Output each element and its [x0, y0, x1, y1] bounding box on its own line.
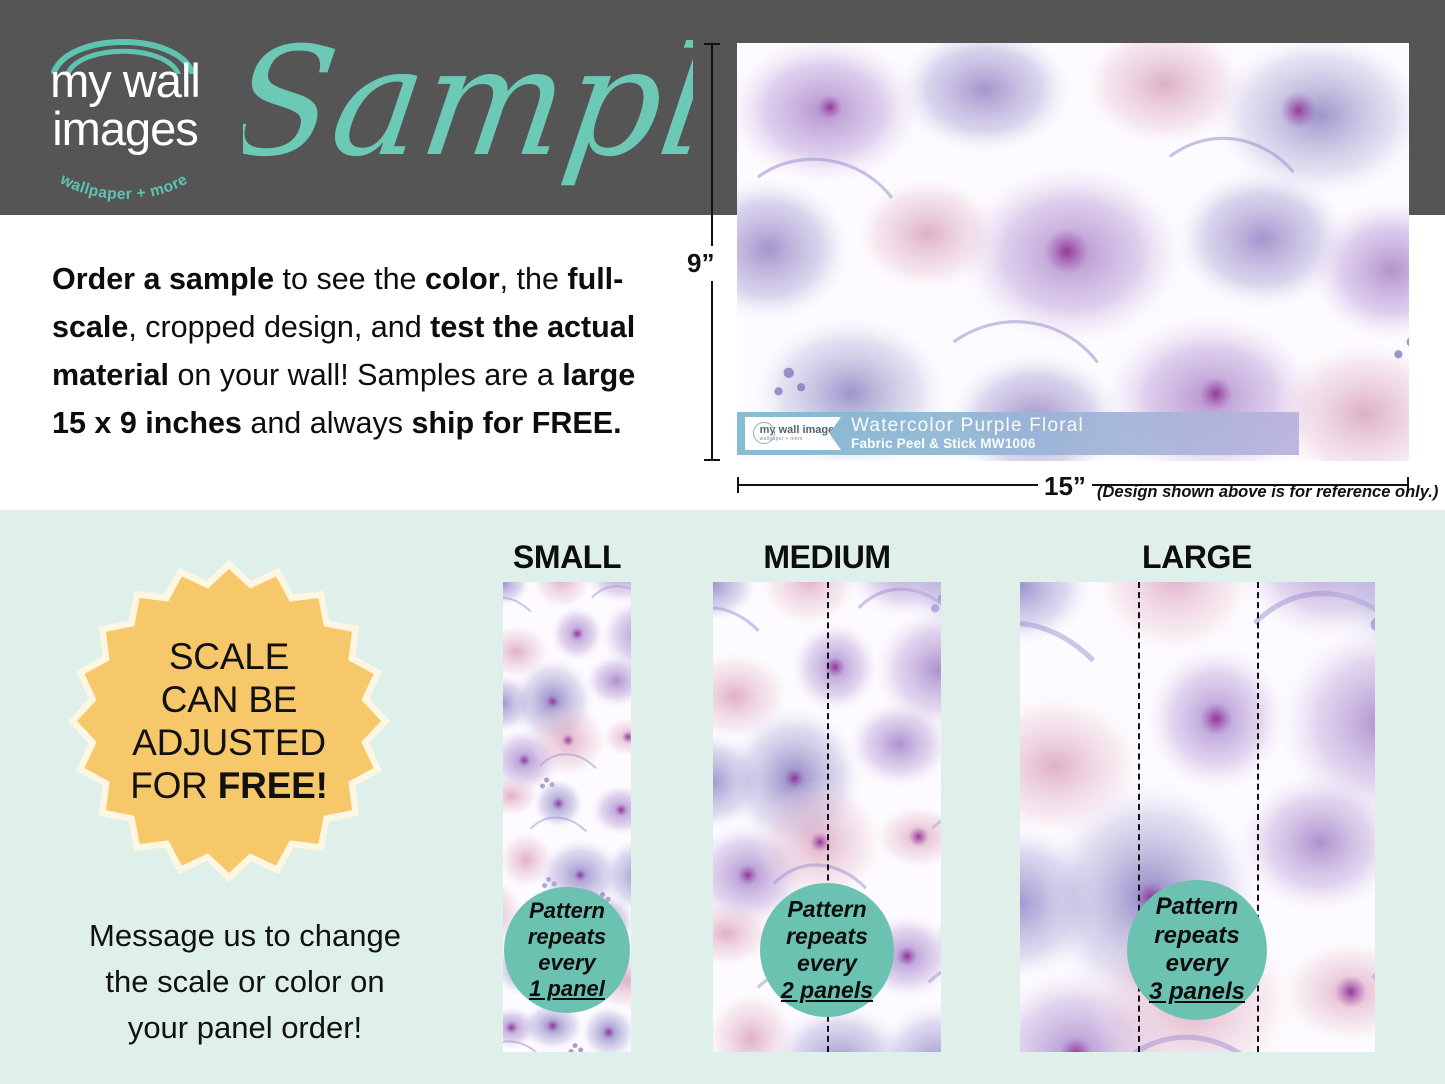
intro-run-3: , the — [500, 262, 568, 296]
message-paragraph: Message us to change the scale or color … — [45, 913, 445, 1051]
repeat-badge-line-4: 3 panels — [1149, 978, 1245, 1006]
height-dimension-label: 9” — [684, 246, 717, 281]
samples-infographic: my wall images wallpaper + more Samples … — [0, 0, 1445, 1084]
repeat-badge-line-1: Pattern — [787, 896, 866, 923]
repeat-badge-large: Patternrepeatsevery3 panels — [1127, 880, 1267, 1020]
badge-line-4-prefix: FOR — [130, 765, 218, 806]
badge-line-4-bold: FREE! — [218, 765, 328, 806]
caption-title: Watercolor Purple Floral — [851, 415, 1084, 436]
badge-line-3: ADJUSTED — [132, 721, 326, 764]
intro-run-2: color — [425, 262, 500, 296]
repeat-badge-line-4: 1 panel — [529, 976, 605, 1002]
repeat-badge-line-4: 2 panels — [781, 977, 873, 1004]
repeat-badge-small: Patternrepeatsevery1 panel — [504, 887, 630, 1013]
repeat-badge-medium: Patternrepeatsevery2 panels — [760, 883, 894, 1017]
repeat-badge-line-1: Pattern — [529, 898, 605, 924]
scale-free-badge: SCALE CAN BE ADJUSTED FOR FREE! — [68, 560, 390, 882]
samples-script-text: Samples — [243, 22, 693, 190]
brand-logo: my wall images wallpaper + more — [22, 26, 222, 206]
intro-run-9: and always — [242, 406, 412, 440]
logo-line-1: my wall — [30, 56, 220, 106]
width-dimension-label: 15” — [1038, 471, 1092, 502]
caption-text: Watercolor Purple Floral Fabric Peel & S… — [851, 415, 1084, 452]
intro-run-0: Order a sample — [52, 262, 274, 296]
repeat-badge-line-2: repeats — [1154, 922, 1239, 950]
badge-line-4: FOR FREE! — [130, 764, 328, 807]
message-line-3: your panel order! — [45, 1005, 445, 1051]
repeat-badge-line-2: repeats — [786, 923, 868, 950]
repeat-badge-line-2: repeats — [528, 924, 606, 950]
message-line-2: the scale or color on — [45, 959, 445, 1005]
reference-note: (Design shown above is for reference onl… — [1097, 483, 1438, 502]
caption-brand-logo: my wall images wallpaper + more — [745, 417, 841, 450]
intro-paragraph: Order a sample to see the color, the ful… — [52, 255, 677, 447]
badge-line-2: CAN BE — [161, 678, 298, 721]
repeat-badge-line-3: every — [538, 950, 596, 976]
caption-subtitle: Fabric Peel & Stick MW1006 — [851, 436, 1084, 452]
watercolor-floral-art — [737, 43, 1409, 461]
sample-caption-bar: my wall images wallpaper + more Watercol… — [737, 412, 1299, 455]
svg-text:wallpaper + more: wallpaper + more — [57, 170, 191, 203]
intro-run-7: on your wall! Samples are a — [169, 358, 562, 392]
badge-line-1: SCALE — [169, 635, 289, 678]
intro-run-10: ship for FREE. — [411, 406, 621, 440]
scale-label-large: LARGE — [1037, 539, 1357, 576]
samples-script-title: Samples — [243, 22, 693, 202]
repeat-badge-line-3: every — [797, 950, 857, 977]
logo-line-2: images — [30, 104, 220, 154]
repeat-badge-line-1: Pattern — [1156, 893, 1239, 921]
sample-preview-image: my wall images wallpaper + more Watercol… — [737, 43, 1409, 461]
logo-tagline-text: wallpaper + more — [57, 170, 191, 203]
scale-label-medium: MEDIUM — [667, 539, 987, 576]
message-line-1: Message us to change — [45, 913, 445, 959]
logo-tagline: wallpaper + more — [34, 148, 214, 208]
repeat-badge-line-3: every — [1166, 950, 1229, 978]
caption-logo-ring — [753, 422, 775, 444]
intro-run-1: to see the — [274, 262, 425, 296]
badge-text: SCALE CAN BE ADJUSTED FOR FREE! — [68, 560, 390, 882]
intro-run-5: , cropped design, and — [128, 310, 430, 344]
